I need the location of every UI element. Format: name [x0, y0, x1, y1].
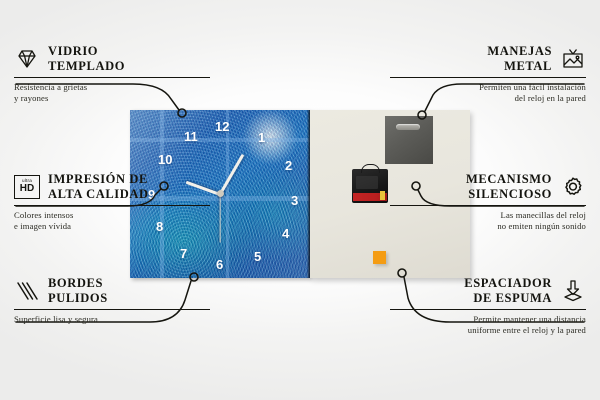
- feature-subtitle-line1: Superficie lisa y segura: [14, 314, 98, 324]
- feature-title: MECANISMO SILENCIOSO: [466, 172, 552, 202]
- feature-subtitle-line2: uniforme entre el reloj y la pared: [468, 325, 586, 335]
- movement-red-label: [353, 193, 387, 201]
- feature-subtitle-line1: Las manecillas del reloj: [501, 210, 586, 220]
- feature-title-line2: ALTA CALIDAD: [48, 187, 149, 201]
- feature-divider: [14, 77, 210, 78]
- feature-subtitle: Permite mantener una distancia uniforme …: [390, 314, 586, 336]
- feature-subtitle-line1: Colores intensos: [14, 210, 73, 220]
- feature-heading: BORDES PULIDOS: [14, 276, 210, 306]
- feature-subtitle-line1: Permite mantener una distancia: [473, 314, 586, 324]
- feature-heading: VIDRIO TEMPLADO: [14, 44, 210, 74]
- feature-title: BORDES PULIDOS: [48, 276, 108, 306]
- movement-body-detail: [356, 176, 378, 189]
- feature-subtitle-line2: e imagen vívida: [14, 221, 71, 231]
- feature-title-line1: BORDES: [48, 276, 103, 290]
- feature-subtitle-line2: del reloj en la pared: [515, 93, 586, 103]
- feature-vidrio-templado: VIDRIO TEMPLADO Resistencia a grietas y …: [14, 44, 210, 104]
- clock-movement: [352, 169, 388, 203]
- feature-subtitle: Resistencia a grietas y rayones: [14, 82, 210, 104]
- feature-heading: MECANISMO SILENCIOSO: [390, 172, 586, 202]
- gear-icon: [560, 174, 586, 200]
- ultra-hd-badge: ultra HD: [14, 175, 40, 199]
- feature-title-line2: TEMPLADO: [48, 59, 125, 73]
- product-infographic: 12 1 2 3 4 5 6 7 8 9 10 11: [0, 0, 600, 400]
- polished-edges-icon: [14, 278, 40, 304]
- feature-divider: [390, 205, 586, 206]
- feature-divider: [390, 309, 586, 310]
- feature-espaciador-de-espuma: ESPACIADOR DE ESPUMA Permite mantener un…: [390, 276, 586, 336]
- feature-heading: ultra HD IMPRESIÓN DE ALTA CALIDAD: [14, 172, 210, 202]
- metal-hanger-plate: [385, 116, 433, 164]
- movement-yellow-chip: [380, 191, 385, 200]
- feature-title-line1: VIDRIO: [48, 44, 98, 58]
- feature-subtitle-line1: Permiten una fácil instalación: [479, 82, 586, 92]
- feature-title-line2: DE ESPUMA: [473, 291, 552, 305]
- feature-bordes-pulidos: BORDES PULIDOS Superficie lisa y segura: [14, 276, 210, 325]
- feature-title: IMPRESIÓN DE ALTA CALIDAD: [48, 172, 149, 202]
- hanger-keyhole-slot: [396, 124, 420, 130]
- feature-subtitle: Permiten una fácil instalación del reloj…: [390, 82, 586, 104]
- feature-subtitle-line1: Resistencia a grietas: [14, 82, 87, 92]
- feature-divider: [14, 205, 210, 206]
- feature-title-line1: MANEJAS: [487, 44, 552, 58]
- feature-mecanismo-silencioso: MECANISMO SILENCIOSO Las manecillas del …: [390, 172, 586, 232]
- ultra-hd-icon: ultra HD: [14, 174, 40, 200]
- feature-title-line1: MECANISMO: [466, 172, 552, 186]
- feature-subtitle: Superficie lisa y segura: [14, 314, 210, 325]
- feature-impresion-alta-calidad: ultra HD IMPRESIÓN DE ALTA CALIDAD Color…: [14, 172, 210, 232]
- ultra-hd-main-text: HD: [20, 184, 34, 194]
- feature-title: ESPACIADOR DE ESPUMA: [464, 276, 552, 306]
- feature-subtitle: Las manecillas del reloj no emiten ningú…: [390, 210, 586, 232]
- feature-title-line2: SILENCIOSO: [468, 187, 552, 201]
- feature-divider: [390, 77, 586, 78]
- feature-manejas-metal: MANEJAS METAL Permiten una fácil instala…: [390, 44, 586, 104]
- feature-title-line2: PULIDOS: [48, 291, 108, 305]
- feature-heading: MANEJAS METAL: [390, 44, 586, 74]
- feature-title-line2: METAL: [504, 59, 552, 73]
- feature-title-line1: ESPACIADOR: [464, 276, 552, 290]
- feature-subtitle: Colores intensos e imagen vívida: [14, 210, 210, 232]
- feature-heading: ESPACIADOR DE ESPUMA: [390, 276, 586, 306]
- diamond-icon: [14, 46, 40, 72]
- foam-spacer: [373, 251, 386, 264]
- feature-divider: [14, 309, 210, 310]
- feature-subtitle-line2: no emiten ningún sonido: [497, 221, 586, 231]
- down-arrow-spacer-icon: [560, 278, 586, 304]
- feature-title: MANEJAS METAL: [487, 44, 552, 74]
- feature-title-line1: IMPRESIÓN DE: [48, 172, 148, 186]
- picture-hanger-icon: [560, 46, 586, 72]
- feature-subtitle-line2: y rayones: [14, 93, 49, 103]
- feature-title: VIDRIO TEMPLADO: [48, 44, 125, 74]
- movement-hanger-loop: [361, 164, 380, 173]
